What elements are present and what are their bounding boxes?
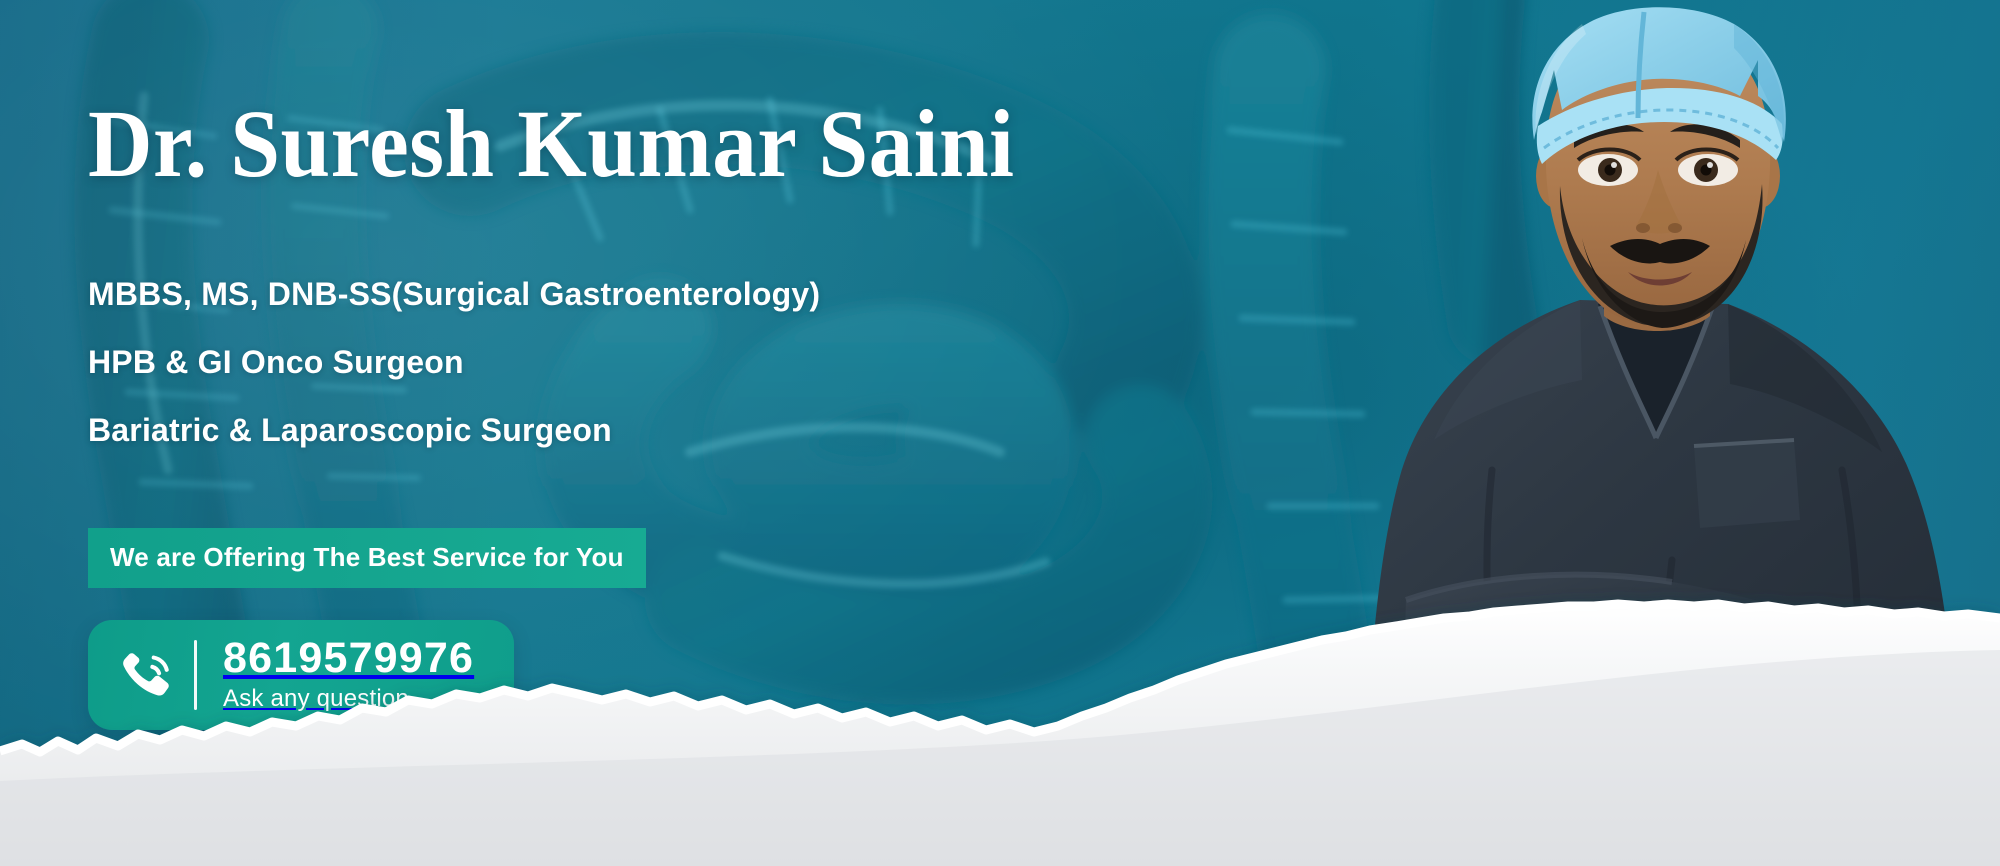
phone-subtitle: Ask any question <box>223 685 474 714</box>
call-divider <box>194 640 197 710</box>
doctor-portrait <box>1342 0 1982 866</box>
page-title: Dr. Suresh Kumar Saini <box>88 96 1014 192</box>
hero-banner: Dr. Suresh Kumar Saini MBBS, MS, DNB-SS(… <box>0 0 2000 866</box>
credential-line: MBBS, MS, DNB-SS(Surgical Gastroenterolo… <box>88 278 820 310</box>
phone-call-icon <box>114 644 176 706</box>
credential-line: Bariatric & Laparoscopic Surgeon <box>88 414 820 446</box>
tagline-badge: We are Offering The Best Service for You <box>88 528 646 588</box>
hero-content: Dr. Suresh Kumar Saini MBBS, MS, DNB-SS(… <box>88 0 1188 866</box>
credentials-list: MBBS, MS, DNB-SS(Surgical Gastroenterolo… <box>88 278 820 482</box>
call-phone-button[interactable]: 8619579976 Ask any question <box>88 620 514 730</box>
phone-number: 8619579976 <box>223 636 474 681</box>
call-text-group: 8619579976 Ask any question <box>223 636 474 714</box>
credential-line: HPB & GI Onco Surgeon <box>88 346 820 378</box>
